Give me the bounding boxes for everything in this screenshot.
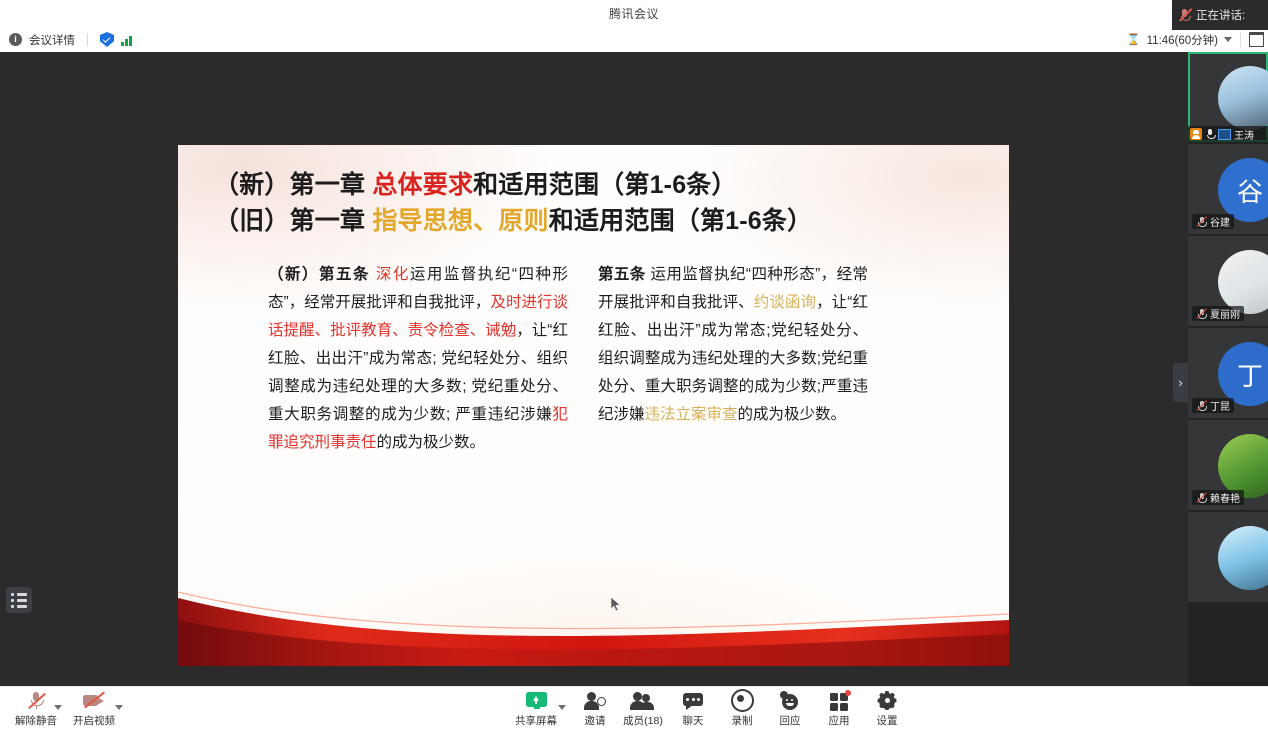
avatar: [1218, 434, 1268, 498]
participant-name: 王涛: [1234, 127, 1254, 142]
participant-name: 赖春艳: [1210, 490, 1240, 505]
slide-column-old: 第五条 运用监督执纪“四种形态”，经常开展批评和自我批评、约谈函询，让“红红脸、…: [598, 261, 868, 457]
share-screen-icon: [526, 690, 547, 711]
slide-text-segment: 违法立案审查: [645, 406, 738, 423]
mic-muted-icon: [1196, 492, 1207, 504]
chat-bubble-icon: [683, 690, 703, 711]
meeting-info-left: i 会议详情: [0, 32, 132, 48]
mic-muted-icon: [1196, 400, 1207, 412]
slide-text-segment: ，让“红红脸、出出汗”成为常态;党纪轻处分、组织调整成为违纪处理的大多数;党纪重…: [598, 294, 868, 423]
mic-muted-icon: [1178, 8, 1191, 22]
chat-label: 聊天: [683, 713, 704, 728]
divider: [87, 33, 88, 46]
chevron-down-icon[interactable]: [1224, 37, 1232, 42]
members-label: 成员(18): [623, 713, 663, 728]
slide-text-segment: 约谈函询: [754, 294, 816, 311]
slide-title-line-old: （旧）第一章 指导思想、原则和适用范围（第1-6条）: [214, 203, 984, 239]
slide-title-segment: 和适用范围（第1-6条）: [549, 207, 813, 235]
gear-icon: [878, 690, 897, 711]
slide-title-segment: 总体要求: [372, 171, 473, 199]
tencent-meeting-window: 腾讯会议 i 会议详情 ⌛ 11:46(60分钟) 正在讲话: （新: [0, 0, 1268, 730]
participant-name: 夏丽刚: [1210, 306, 1240, 321]
slide-title-segment: 和适用范围（第1-6条）: [473, 171, 737, 199]
share-screen-label: 共享屏幕: [515, 713, 557, 728]
slide-title: （新）第一章 总体要求和适用范围（第1-6条） （旧）第一章 指导思想、原则和适…: [214, 167, 984, 239]
apps-grid-icon: [830, 690, 849, 711]
participant-tile[interactable]: [1188, 512, 1268, 602]
participant-name-bar: 赖春艳: [1192, 490, 1244, 505]
record-circle-icon: [731, 690, 754, 711]
slide-text-segment: 深化: [376, 266, 410, 283]
participant-name-bar: 夏丽刚: [1192, 306, 1244, 321]
slide-wave-decoration: [178, 576, 1009, 666]
list-view-icon[interactable]: [6, 587, 32, 613]
mic-on-icon: [1205, 128, 1215, 140]
record-label: 录制: [732, 713, 753, 728]
video-button[interactable]: 开启视频: [66, 690, 122, 728]
participant-name-bar: 丁昆: [1192, 398, 1234, 413]
participant-name-bar: 谷建: [1192, 214, 1234, 229]
maximize-icon[interactable]: [1249, 32, 1264, 47]
participant-name: 谷建: [1210, 214, 1230, 229]
meeting-info-bar: i 会议详情 ⌛ 11:46(60分钟): [0, 27, 1268, 53]
hourglass-icon: ⌛: [1127, 33, 1141, 46]
reaction-button[interactable]: 回应: [762, 690, 818, 728]
divider: [1240, 32, 1241, 47]
slide-title-line-new: （新）第一章 总体要求和适用范围（第1-6条）: [214, 167, 984, 203]
presentation-slide: （新）第一章 总体要求和适用范围（第1-6条） （旧）第一章 指导思想、原则和适…: [178, 145, 1009, 666]
settings-button[interactable]: 设置: [859, 690, 915, 728]
active-speaker-label: 正在讲话:: [1196, 7, 1245, 23]
camera-off-icon: [83, 690, 105, 711]
mic-options-chevron-icon[interactable]: [54, 705, 62, 710]
avatar: 丁: [1218, 342, 1268, 406]
mic-muted-icon: [1196, 308, 1207, 320]
host-icon: [1190, 128, 1202, 140]
emoji-reaction-icon: [780, 690, 801, 711]
participant-tile[interactable]: 赖春艳: [1188, 420, 1268, 510]
participant-tile[interactable]: 谷谷建: [1188, 144, 1268, 234]
meeting-timer: 11:46(60分钟): [1147, 32, 1218, 48]
participant-filmstrip[interactable]: 王涛谷谷建夏丽刚丁丁昆赖春艳: [1188, 52, 1268, 686]
avatar-initial: 丁: [1218, 342, 1268, 406]
avatar: 谷: [1218, 158, 1268, 222]
slide-text-segment: 的成为极少数。: [377, 434, 486, 451]
signal-bars-icon[interactable]: [121, 34, 132, 46]
mic-muted-icon: [28, 690, 45, 711]
participant-name-bar: 王涛: [1188, 126, 1268, 142]
reaction-label: 回应: [780, 713, 801, 728]
chat-button[interactable]: 聊天: [665, 690, 721, 728]
participant-name: 丁昆: [1210, 398, 1230, 413]
avatar: [1218, 526, 1268, 590]
shield-icon[interactable]: [100, 32, 114, 47]
slide-title-segment: （新）第一章: [214, 171, 372, 199]
members-button[interactable]: 成员(18): [615, 690, 671, 728]
info-icon[interactable]: i: [9, 33, 22, 46]
slide-text-segment: 第五条: [598, 266, 650, 283]
active-speaker-overlay: 正在讲话:: [1172, 0, 1268, 30]
mic-muted-icon: [1196, 216, 1207, 228]
share-screen-button[interactable]: 共享屏幕: [508, 690, 564, 728]
avatar: [1218, 250, 1268, 314]
avatar-initial: 谷: [1218, 158, 1268, 222]
meeting-toolbar: 解除静音 开启视频 共享屏幕 邀请 成员(18): [0, 686, 1268, 731]
invite-label: 邀请: [585, 713, 606, 728]
participant-tile[interactable]: 王涛: [1188, 52, 1268, 142]
meeting-info-right: ⌛ 11:46(60分钟): [1127, 32, 1268, 48]
mute-label: 解除静音: [15, 713, 57, 728]
mouse-cursor-icon: [611, 597, 622, 612]
slide-text-segment: （新）第五条: [268, 266, 376, 283]
window-title: 腾讯会议: [609, 5, 659, 22]
slide-body-columns: （新）第五条 深化运用监督执纪“四种形态”，经常开展批评和自我批评，及时进行谈话…: [268, 261, 973, 457]
video-label: 开启视频: [73, 713, 115, 728]
people-icon: [632, 690, 654, 711]
screen-share-icon: [1218, 129, 1231, 140]
slide-column-new: （新）第五条 深化运用监督执纪“四种形态”，经常开展批评和自我批评，及时进行谈话…: [268, 261, 568, 457]
settings-label: 设置: [877, 713, 898, 728]
share-options-chevron-icon[interactable]: [558, 705, 566, 710]
slide-text-segment: 的成为极少数。: [738, 406, 847, 423]
avatar: [1218, 66, 1268, 130]
participant-tile[interactable]: 丁丁昆: [1188, 328, 1268, 418]
video-options-chevron-icon[interactable]: [115, 705, 123, 710]
shared-content-stage: （新）第一章 总体要求和适用范围（第1-6条） （旧）第一章 指导思想、原则和适…: [0, 52, 1188, 686]
meeting-details-label[interactable]: 会议详情: [29, 32, 75, 48]
apps-label: 应用: [829, 713, 850, 728]
chevron-right-icon[interactable]: ›: [1173, 363, 1188, 402]
title-bar: 腾讯会议: [0, 0, 1268, 27]
participant-tile[interactable]: 夏丽刚: [1188, 236, 1268, 326]
slide-title-segment: 指导思想、原则: [372, 207, 548, 235]
invite-person-icon: [585, 690, 606, 711]
slide-title-segment: （旧）第一章: [214, 207, 372, 235]
